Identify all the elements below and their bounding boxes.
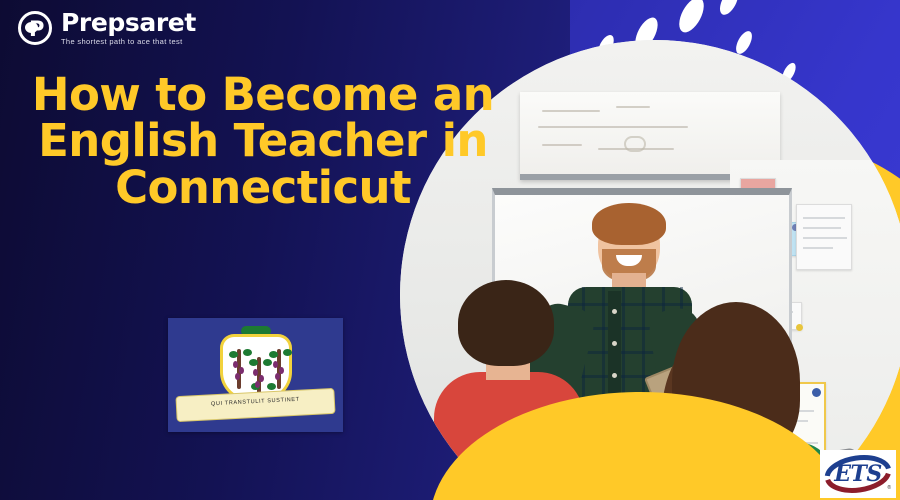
ets-logo[interactable]: ETS ® xyxy=(820,450,896,498)
brand-tagline: The shortest path to ace that test xyxy=(61,38,196,46)
pinned-paper xyxy=(796,204,852,270)
dot-ellipse-icon xyxy=(716,0,742,18)
teacher-hair xyxy=(592,203,666,245)
flag-motto-text: QUI TRANSTULIT SUSTINET xyxy=(177,395,334,409)
banner-graphic: P Prepsaret The shortest path to ace tha… xyxy=(0,0,900,500)
headline-line-1: How to Become an xyxy=(28,72,498,118)
brand-logo[interactable]: P Prepsaret The shortest path to ace tha… xyxy=(18,10,196,46)
student-hair xyxy=(458,280,554,366)
ets-wordmark: ETS xyxy=(834,461,882,487)
registered-mark: ® xyxy=(887,485,891,491)
page-title: How to Become an English Teacher in Conn… xyxy=(28,72,498,211)
headline-line-3: Connecticut xyxy=(28,165,498,211)
flag-motto-banner: QUI TRANSTULIT SUSTINET xyxy=(175,388,335,422)
prepsaret-p-circle-icon: P xyxy=(18,11,52,45)
brand-name: Prepsaret xyxy=(61,10,196,35)
dot-ellipse-icon xyxy=(674,0,709,36)
headline-line-2: English Teacher in xyxy=(28,118,498,164)
connecticut-state-flag: QUI TRANSTULIT SUSTINET xyxy=(168,318,343,432)
